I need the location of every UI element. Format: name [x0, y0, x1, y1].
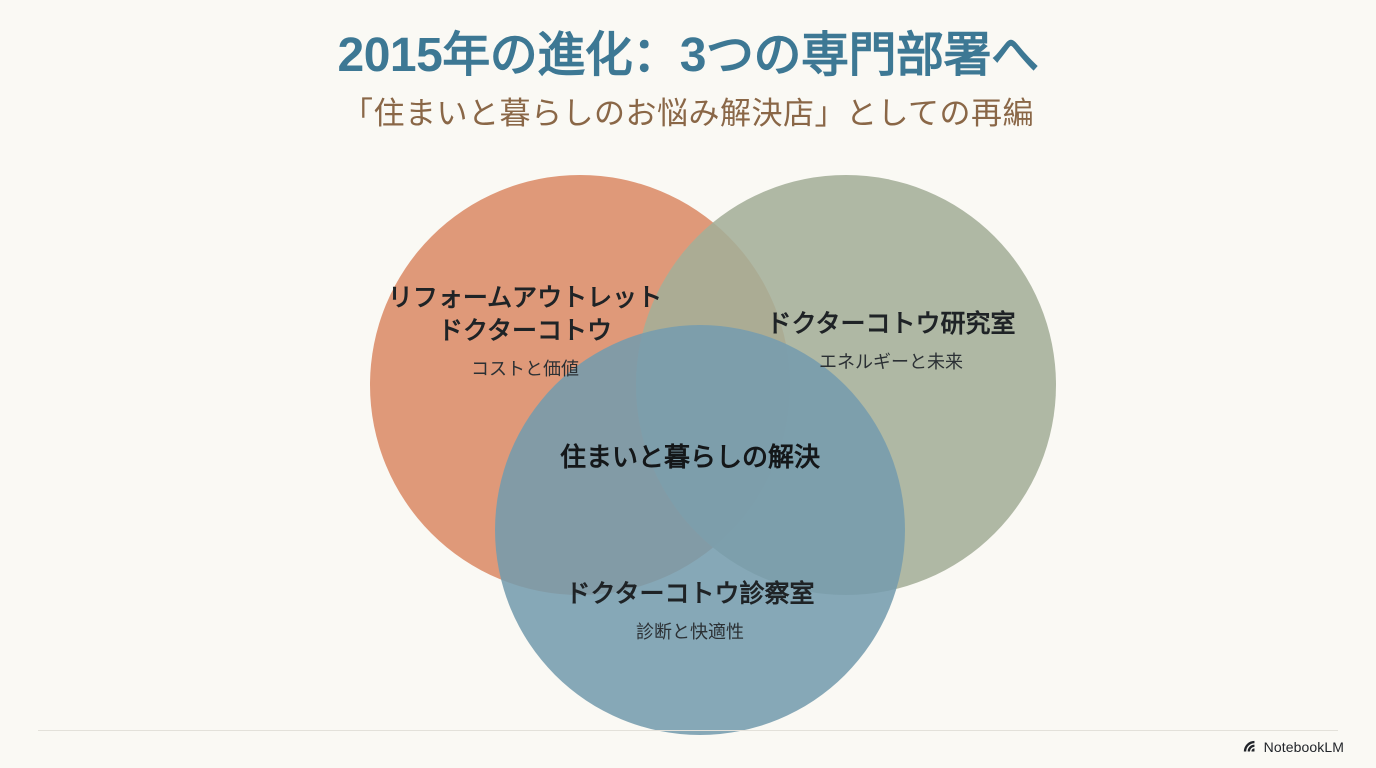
venn-circles-svg	[0, 0, 1376, 768]
footer-divider	[38, 730, 1338, 731]
notebooklm-brand-label: NotebookLM	[1264, 739, 1344, 755]
notebooklm-spiral-icon	[1241, 738, 1258, 755]
venn-diagram: リフォームアウトレット ドクターコトウ コストと価値 ドクターコトウ研究室 エネ…	[0, 0, 1376, 768]
venn-circle-bottom[interactable]	[495, 325, 905, 735]
notebooklm-branding: NotebookLM	[1241, 738, 1344, 755]
slide-canvas: 2015年の進化：3つの専門部署へ 「住まいと暮らしのお悩み解決店」としての再編…	[0, 0, 1376, 768]
